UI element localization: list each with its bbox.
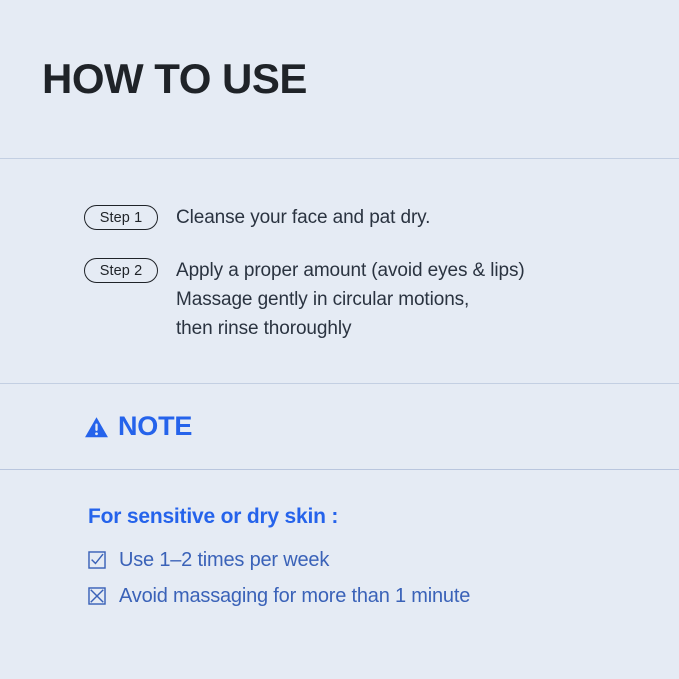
step-text-1: Cleanse your face and pat dry. (176, 203, 430, 232)
list-item: Avoid massaging for more than 1 minute (88, 583, 639, 609)
sensitive-skin-section: For sensitive or dry skin : Use 1–2 time… (0, 470, 679, 679)
list-item-label: Use 1–2 times per week (119, 547, 329, 573)
how-to-use-card: HOW TO USE Step 1 Cleanse your face and … (0, 0, 679, 679)
step-badge-1: Step 1 (84, 205, 158, 230)
sensitive-skin-heading: For sensitive or dry skin : (88, 504, 639, 529)
note-title: NOTE (118, 413, 192, 440)
checkbox-checked-icon (88, 551, 106, 569)
page-title: HOW TO USE (42, 58, 307, 100)
step-row: Step 1 Cleanse your face and pat dry. (84, 203, 639, 232)
steps-section: Step 1 Cleanse your face and pat dry. St… (0, 159, 679, 383)
title-section: HOW TO USE (0, 0, 679, 158)
warning-triangle-icon (84, 415, 109, 440)
list-item: Use 1–2 times per week (88, 547, 639, 573)
step-text-2: Apply a proper amount (avoid eyes & lips… (176, 256, 525, 343)
guidance-list: Use 1–2 times per week Avoid massaging f… (88, 547, 639, 609)
step-row: Step 2 Apply a proper amount (avoid eyes… (84, 256, 639, 343)
note-heading-group: NOTE (84, 413, 192, 440)
note-section: NOTE (0, 384, 679, 469)
checkbox-crossed-icon (88, 587, 106, 605)
step-badge-2: Step 2 (84, 258, 158, 283)
list-item-label: Avoid massaging for more than 1 minute (119, 583, 470, 609)
